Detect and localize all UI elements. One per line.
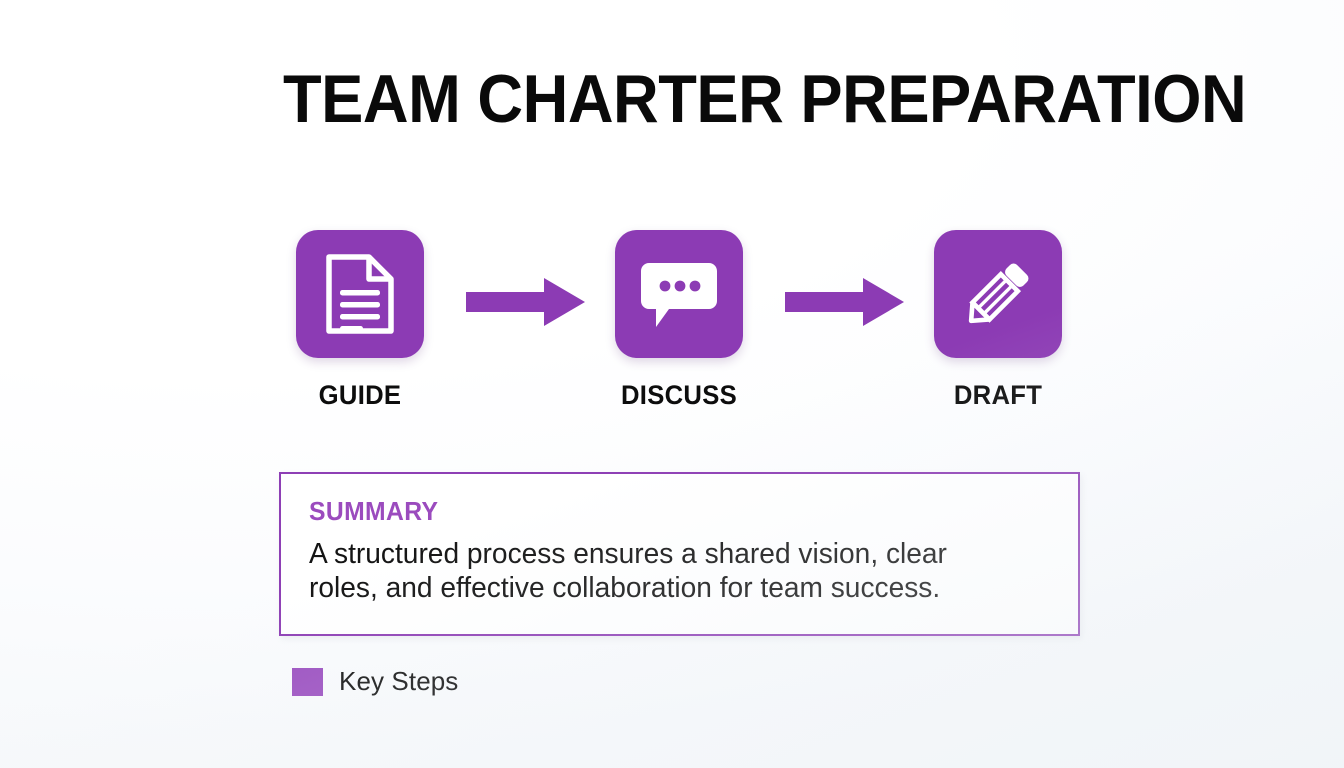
step-label-discuss: DISCUSS [618,380,740,411]
summary-panel: SUMMARY A structured process ensures a s… [279,472,1080,636]
step-label-draft: DRAFT [937,380,1059,411]
process-step-draft[interactable]: DRAFT [934,230,1062,411]
step-icon-tile-draft[interactable] [934,230,1062,358]
legend-color-swatch [292,668,323,696]
page-title: TEAM CHARTER PREPARATION [283,62,1246,136]
step-label-guide: GUIDE [299,380,421,411]
summary-heading: SUMMARY [309,496,1015,527]
document-icon [323,253,397,335]
arrow-right-icon-2 [785,276,905,328]
pencil-icon [958,254,1038,334]
legend: Key Steps [292,666,458,697]
process-step-discuss[interactable]: DISCUSS [615,230,743,411]
process-flow: GUIDE DISCUSS [296,230,1064,410]
process-step-guide[interactable]: GUIDE [296,230,424,411]
arrow-right-icon-1 [466,276,586,328]
summary-body-text: A structured process ensures a shared vi… [309,537,1007,605]
step-icon-tile-discuss[interactable] [615,230,743,358]
speech-bubble-icon [639,257,719,331]
step-icon-tile-guide[interactable] [296,230,424,358]
legend-label: Key Steps [339,666,458,697]
slide-canvas: TEAM CHARTER PREPARATION GUIDE [0,0,1344,768]
